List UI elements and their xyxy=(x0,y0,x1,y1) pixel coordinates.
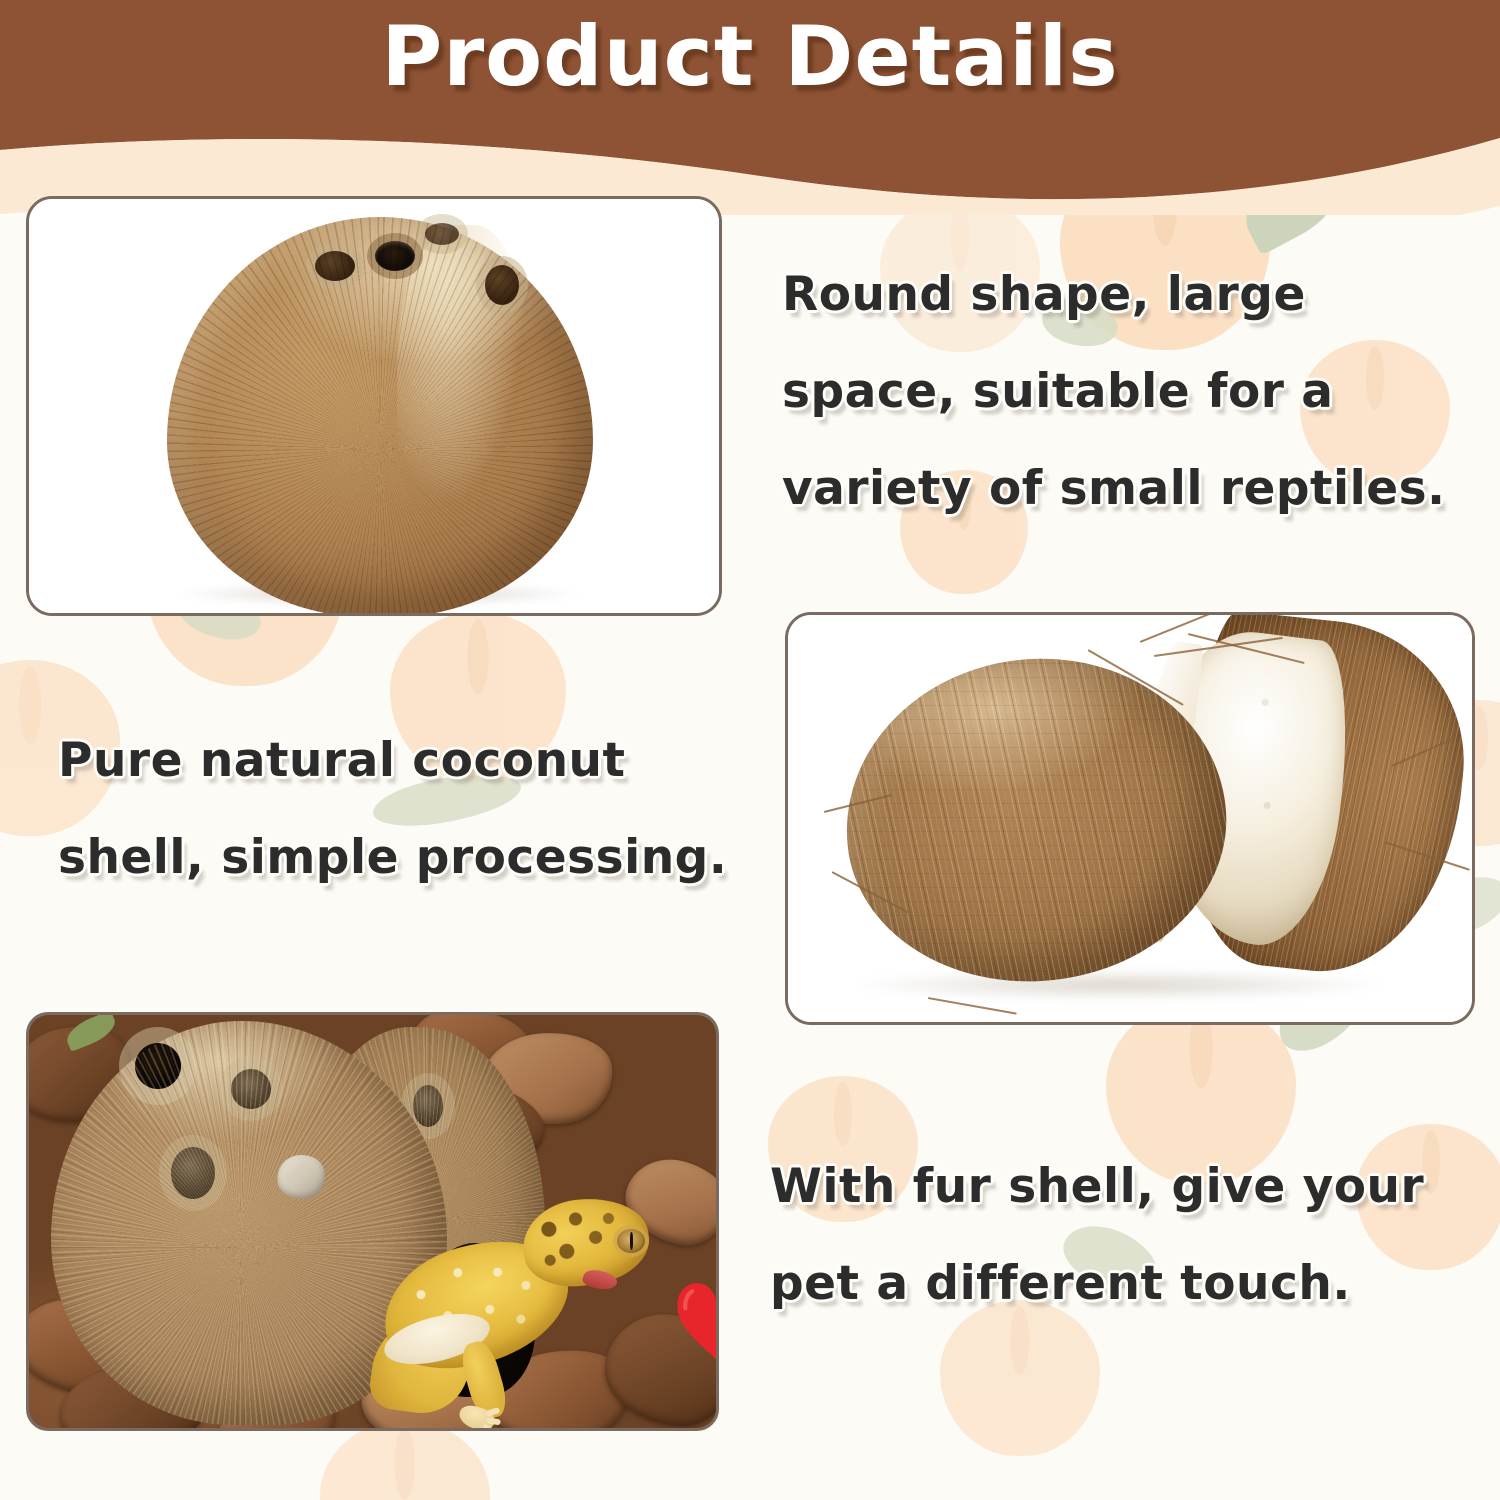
photo-card-coconut-split[interactable] xyxy=(785,612,1475,1025)
peach-watermark xyxy=(320,1420,490,1500)
feature-line: variety of small reptiles. xyxy=(782,440,1482,537)
husk-eye-mark xyxy=(171,1147,215,1199)
husk-eye-mark xyxy=(425,223,459,245)
photo-coconut-split xyxy=(788,615,1472,1022)
feature-line: With fur shell, give your xyxy=(770,1138,1470,1235)
page-title: Product Details xyxy=(0,8,1500,105)
husk-eye-mark xyxy=(231,1069,271,1109)
photo-gecko-in-habitat xyxy=(29,1015,716,1428)
leopard-gecko xyxy=(373,1193,653,1428)
drilled-entry-hole xyxy=(135,1043,181,1089)
gecko-toe xyxy=(486,1417,501,1425)
husk-eye-mark xyxy=(413,1085,443,1127)
feature-line: pet a different touch. xyxy=(770,1235,1470,1332)
feature-text-round-shape: Round shape, large space, suitable for a… xyxy=(782,246,1482,537)
husk-eye-mark xyxy=(315,251,355,281)
gecko-eye xyxy=(617,1229,645,1253)
feature-line: shell, simple processing. xyxy=(58,809,758,906)
feature-text-fur-shell: With fur shell, give your pet a differen… xyxy=(770,1138,1470,1332)
photo-card-gecko-habitat[interactable] xyxy=(26,1012,719,1431)
feature-text-pure-natural: Pure natural coconut shell, simple proce… xyxy=(58,712,758,906)
drop-shadow xyxy=(858,970,1378,1000)
feature-line: Round shape, large xyxy=(782,246,1482,343)
heart-icon xyxy=(673,1281,716,1361)
feature-line: space, suitable for a xyxy=(782,343,1482,440)
photo-coconut-dome xyxy=(29,199,719,613)
husk-eye-mark xyxy=(485,265,519,305)
product-details-infographic: Product Details xyxy=(0,0,1500,1500)
feature-line: Pure natural coconut xyxy=(58,712,758,809)
heart-glyph xyxy=(673,1281,716,1361)
photo-card-coconut-dome[interactable] xyxy=(26,196,722,616)
white-photo-backdrop xyxy=(29,199,719,613)
bark-substrate-backdrop xyxy=(29,1015,716,1428)
page-header: Product Details xyxy=(0,0,1500,215)
white-photo-backdrop xyxy=(788,615,1472,1022)
coconut-shell-dome xyxy=(167,217,593,613)
drilled-entry-hole xyxy=(375,241,415,271)
shell-highlight xyxy=(397,225,525,505)
